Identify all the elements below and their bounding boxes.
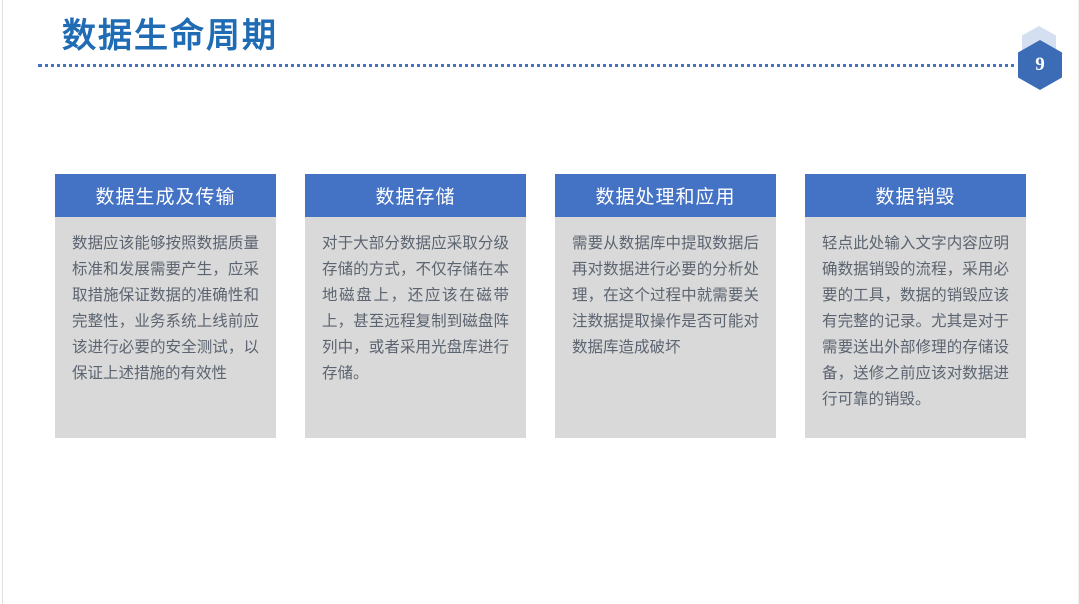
card-4-header: 数据销毁 [805, 174, 1026, 217]
lifecycle-card-3[interactable]: 数据处理和应用 需要从数据库中提取数据后再对数据进行必要的分析处理，在这个过程中… [555, 174, 776, 438]
card-4-body: 轻点此处输入文字内容应明确数据销毁的流程，采用必要的工具，数据的销毁应该有完整的… [805, 217, 1026, 438]
page-title: 数据生命周期 [62, 14, 278, 58]
card-1-body: 数据应该能够按照数据质量标准和发展需要产生，应采取措施保证数据的准确性和完整性，… [55, 217, 276, 438]
card-2-header: 数据存储 [305, 174, 526, 217]
lifecycle-card-1[interactable]: 数据生成及传输 数据应该能够按照数据质量标准和发展需要产生，应采取措施保证数据的… [55, 174, 276, 438]
card-3-body: 需要从数据库中提取数据后再对数据进行必要的分析处理，在这个过程中就需要关注数据提… [555, 217, 776, 438]
title-divider-dotted-rule [38, 64, 1022, 67]
page-number-label: 9 [1018, 40, 1062, 90]
lifecycle-card-4[interactable]: 数据销毁 轻点此处输入文字内容应明确数据销毁的流程，采用必要的工具，数据的销毁应… [805, 174, 1026, 438]
lifecycle-card-list: 数据生成及传输 数据应该能够按照数据质量标准和发展需要产生，应采取措施保证数据的… [55, 174, 1026, 438]
slide-left-border [2, 0, 3, 604]
page-number-badge: 9 [1018, 26, 1064, 92]
card-2-body: 对于大部分数据应采取分级存储的方式，不仅存储在本地磁盘上，还应该在磁带上，甚至远… [305, 217, 526, 438]
lifecycle-card-2[interactable]: 数据存储 对于大部分数据应采取分级存储的方式，不仅存储在本地磁盘上，还应该在磁带… [305, 174, 526, 438]
card-1-header: 数据生成及传输 [55, 174, 276, 217]
card-3-header: 数据处理和应用 [555, 174, 776, 217]
